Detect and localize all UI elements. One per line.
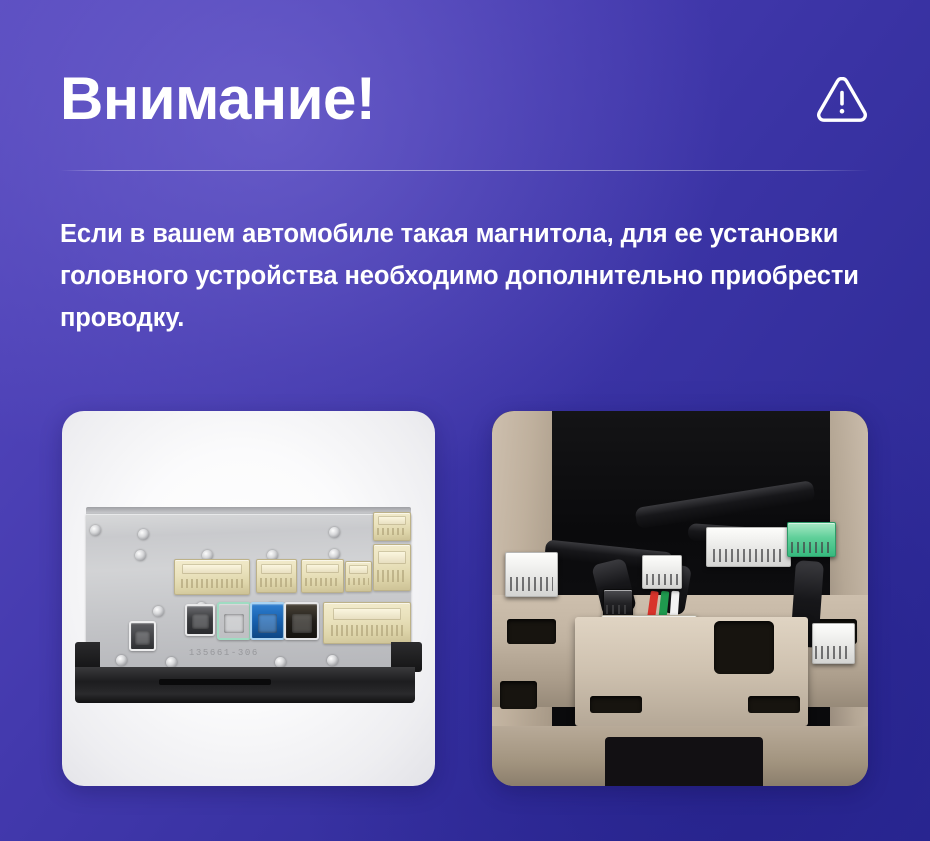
- head-unit-rear-photo[interactable]: 135661-306: [62, 411, 435, 786]
- wiring-harness-photo[interactable]: [492, 411, 868, 786]
- header-divider: [60, 170, 870, 171]
- warning-triangle-icon: [814, 71, 870, 127]
- wiring-harness-image: [492, 411, 868, 786]
- body-text: Если в вашем автомобиле такая магнитола,…: [60, 213, 880, 339]
- head-unit-rear-image: 135661-306: [62, 411, 435, 786]
- page-title: Внимание!: [60, 68, 375, 130]
- banner-header: Внимание!: [60, 56, 870, 142]
- attention-banner: Внимание! Если в вашем автомобиле такая …: [0, 0, 930, 841]
